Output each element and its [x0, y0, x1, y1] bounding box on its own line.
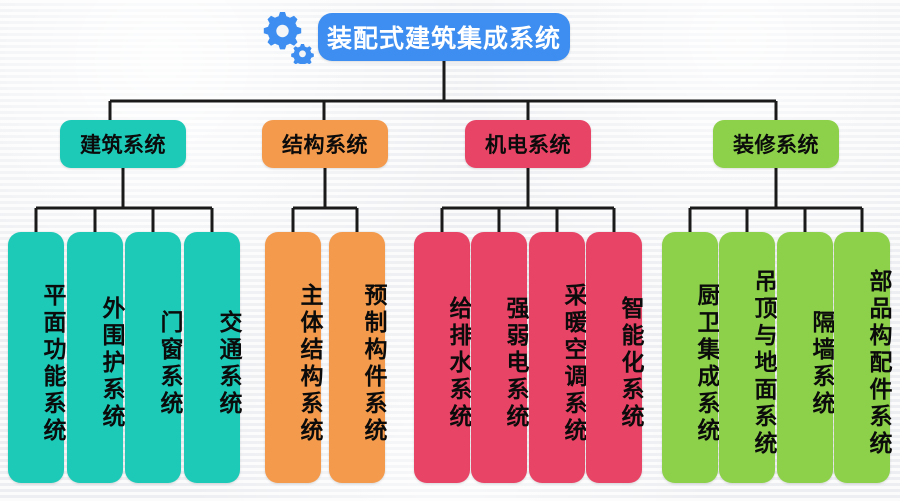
leaf-node-label: 主体结构系统 [298, 283, 321, 445]
branch-node-architecture[interactable]: 建筑系统 [60, 120, 186, 168]
leaf-node-label: 厨卫集成系统 [695, 283, 718, 445]
diagram-canvas: 装配式建筑集成系统 建筑系统 结构系统 机电系统 装修系统 平面功能系统 外围护… [0, 0, 900, 501]
leaf-node-precast-component[interactable]: 预制构件系统 [329, 232, 385, 483]
gear-icon-large [264, 12, 301, 49]
leaf-node-circulation[interactable]: 交通系统 [184, 232, 240, 483]
leaf-node-electrical[interactable]: 强弱电系统 [471, 232, 527, 483]
leaf-node-label: 采暖空调系统 [562, 283, 585, 445]
root-node[interactable]: 装配式建筑集成系统 [318, 13, 570, 61]
leaf-node-kitchen-bathroom[interactable]: 厨卫集成系统 [662, 232, 718, 483]
branch-node-decoration[interactable]: 装修系统 [713, 120, 839, 168]
leaf-node-main-structure[interactable]: 主体结构系统 [265, 232, 321, 483]
branch-node-label: 机电系统 [485, 129, 571, 159]
leaf-node-envelope[interactable]: 外围护系统 [67, 232, 123, 483]
gear-icon-small [291, 44, 314, 64]
branch-node-label: 结构系统 [282, 129, 368, 159]
leaf-node-water-supply-drainage[interactable]: 给排水系统 [414, 232, 470, 483]
leaf-node-label: 部品构配件系统 [867, 269, 890, 458]
leaf-node-floor-function[interactable]: 平面功能系统 [8, 232, 64, 483]
root-node-label: 装配式建筑集成系统 [327, 19, 561, 55]
leaf-node-label: 外围护系统 [100, 296, 123, 431]
leaf-node-label: 门窗系统 [158, 310, 181, 418]
branch-node-label: 装修系统 [733, 129, 819, 159]
leaf-node-label: 给排水系统 [447, 296, 470, 431]
leaf-node-label: 平面功能系统 [41, 283, 64, 445]
leaf-node-label: 智能化系统 [619, 296, 642, 431]
leaf-node-partition-wall[interactable]: 隔墙系统 [777, 232, 833, 483]
leaf-node-label: 交通系统 [217, 310, 240, 418]
leaf-node-label: 隔墙系统 [810, 310, 833, 418]
gear-cluster [258, 8, 320, 69]
leaf-node-hvac[interactable]: 采暖空调系统 [529, 232, 585, 483]
branch-node-label: 建筑系统 [80, 129, 166, 159]
leaf-node-ceiling-floor[interactable]: 吊顶与地面系统 [719, 232, 775, 483]
leaf-node-intelligent[interactable]: 智能化系统 [586, 232, 642, 483]
branch-node-structure[interactable]: 结构系统 [262, 120, 388, 168]
branch-node-mep[interactable]: 机电系统 [465, 120, 591, 168]
leaf-node-door-window[interactable]: 门窗系统 [125, 232, 181, 483]
leaf-node-label: 吊顶与地面系统 [752, 269, 775, 458]
leaf-node-label: 预制构件系统 [362, 283, 385, 445]
gear-group-svg [258, 8, 320, 64]
leaf-node-label: 强弱电系统 [504, 296, 527, 431]
leaf-node-parts-fittings[interactable]: 部品构配件系统 [834, 232, 890, 483]
